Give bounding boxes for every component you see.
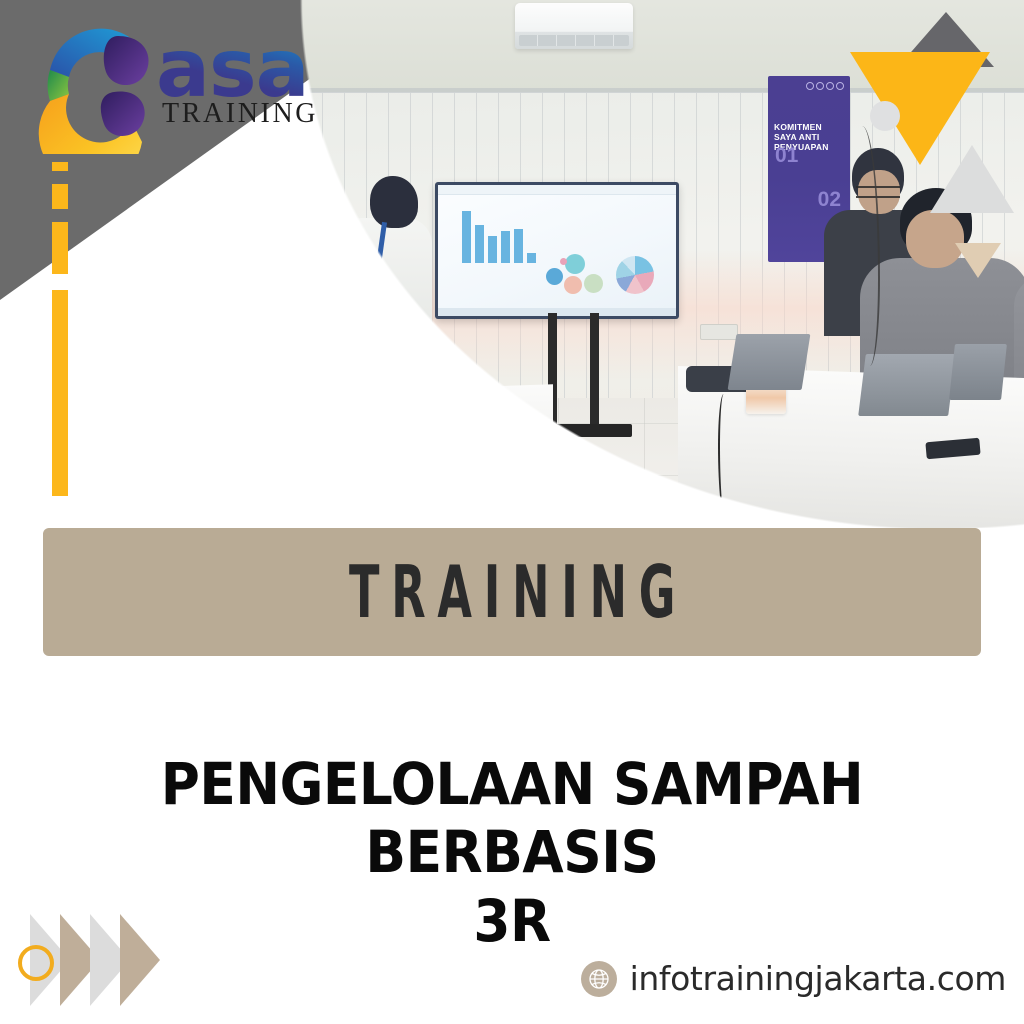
course-title-line-1: PENGELOLAAN SAMPAH BERBASIS <box>41 750 983 887</box>
tissue-box-left <box>430 383 470 415</box>
yellow-accent-bar-1 <box>52 162 68 171</box>
brand-logo: asa TRAINING <box>28 14 338 158</box>
brand-subtitle: TRAINING <box>162 98 318 130</box>
tan-triangle-down-icon <box>955 243 1001 278</box>
gray-circle-icon <box>870 101 900 131</box>
wall-socket <box>700 324 738 340</box>
rollup-item-01: 01 <box>775 144 798 168</box>
monitor-stand-pole-right <box>590 313 599 431</box>
brand-wordmark: asa TRAINING <box>156 36 318 130</box>
globe-icon <box>581 961 617 997</box>
laptop-2 <box>858 354 956 416</box>
training-banner: TRAINING <box>43 528 981 656</box>
laptop-3 <box>949 344 1007 400</box>
rollup-item-02: 02 <box>818 188 841 212</box>
screen-toolbar <box>438 185 676 195</box>
presenter-body <box>340 218 432 378</box>
monitor-screen <box>438 185 676 316</box>
presentation-monitor <box>435 182 679 319</box>
chevron-4-icon <box>120 914 160 1006</box>
yellow-accent-bar-2 <box>52 184 68 209</box>
training-banner-label: TRAINING <box>337 550 687 634</box>
brand-name: asa <box>156 36 318 102</box>
cable-table <box>718 394 732 524</box>
yellow-ring-icon <box>18 945 54 981</box>
screen-bar-chart <box>462 205 536 263</box>
screen-taskbar <box>438 308 676 316</box>
presenter-badge <box>374 278 388 289</box>
website-footer[interactable]: infotrainingjakarta.com <box>581 959 1006 998</box>
chevron-decoration <box>18 914 204 1006</box>
website-url[interactable]: infotrainingjakarta.com <box>630 959 1006 998</box>
participant-3-body <box>1014 276 1024 394</box>
training-flyer: KOMITMEN SAYA ANTI PENYUAPAN 01 02 <box>0 0 1024 1024</box>
rollup-dots-icon <box>806 82 844 90</box>
light-gray-triangle-up-icon <box>930 145 1014 213</box>
screen-bubble-chart <box>546 254 608 294</box>
casa-circular-logo-icon <box>28 14 168 154</box>
air-conditioner <box>515 3 633 49</box>
yellow-accent-bar-3 <box>52 222 68 274</box>
presenter-head <box>370 176 418 228</box>
screen-pie-chart <box>616 256 654 294</box>
laptop-1 <box>728 334 811 390</box>
yellow-accent-bar-4 <box>52 290 68 496</box>
